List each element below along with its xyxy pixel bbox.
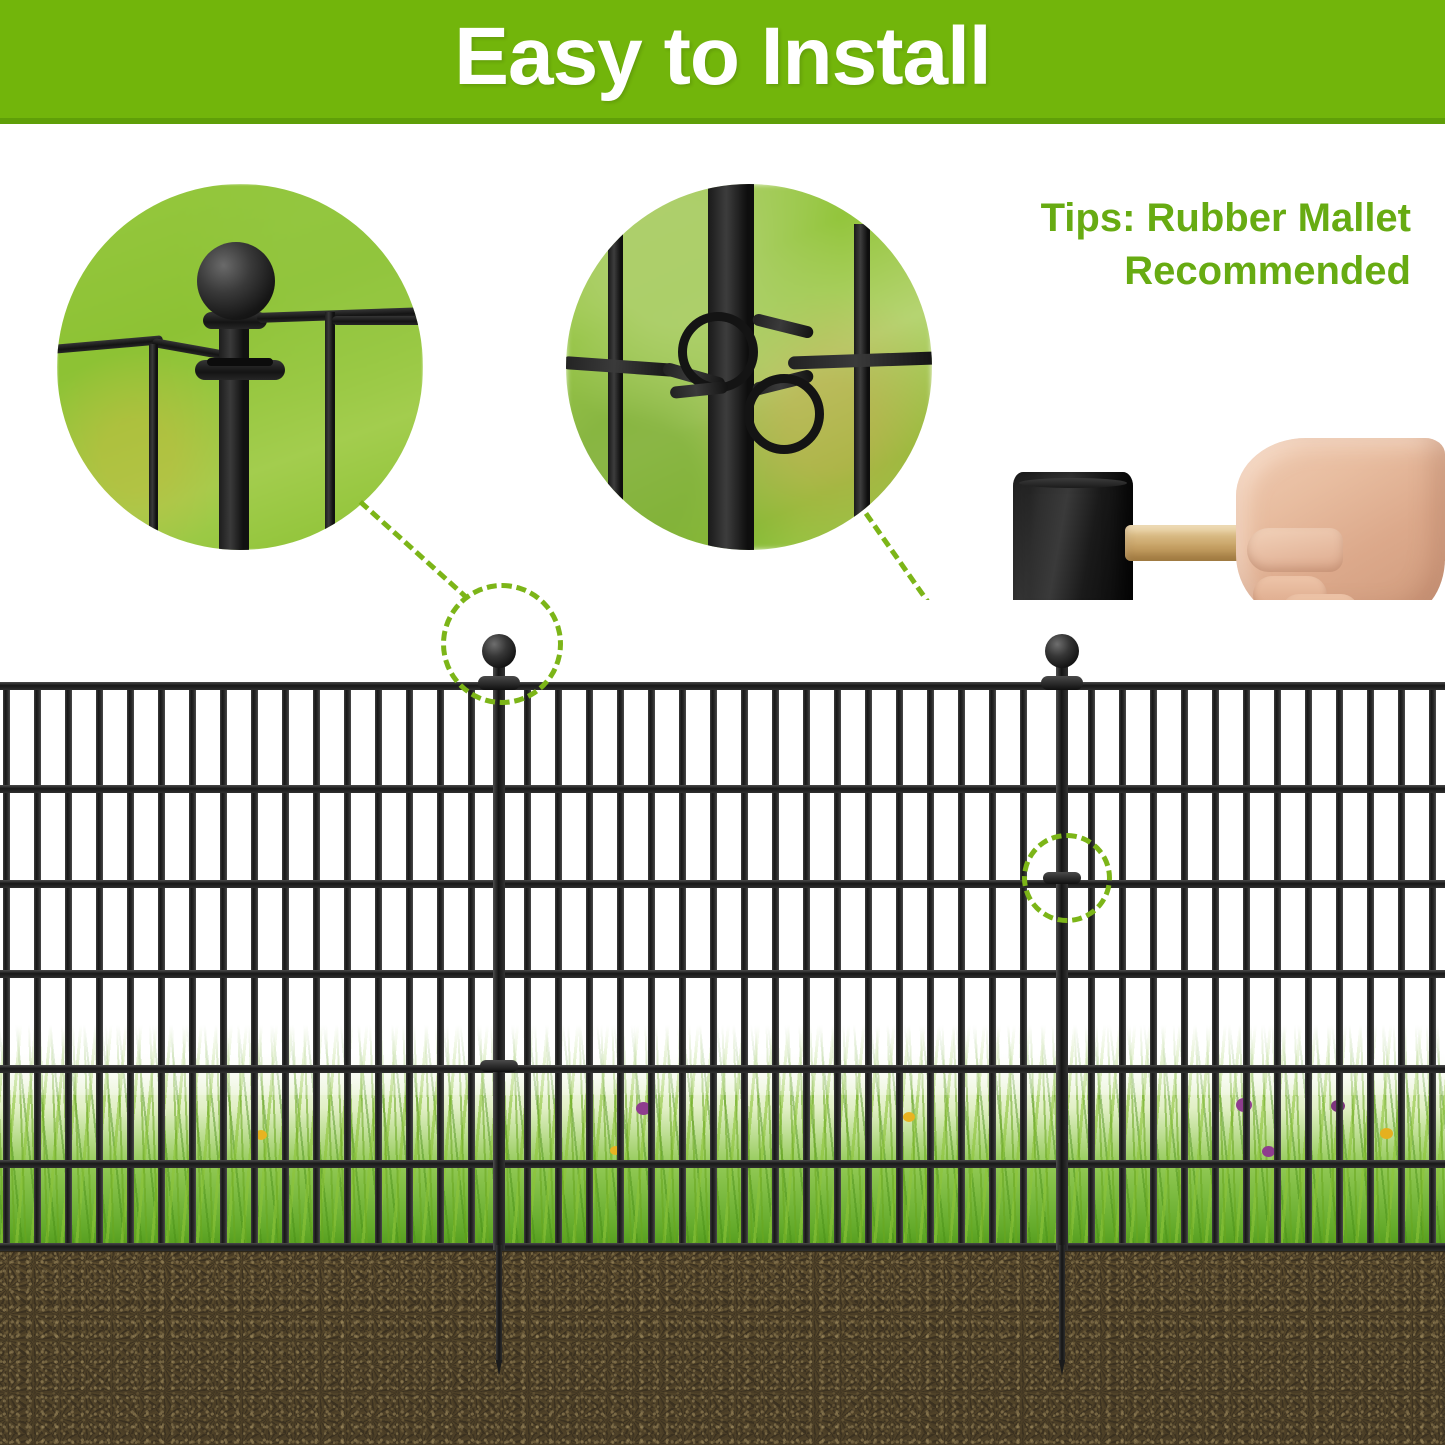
tips-text: Tips: Rubber Mallet Recommended	[941, 192, 1411, 298]
ground-stake-tip	[1059, 1360, 1065, 1376]
fence	[0, 600, 1445, 1445]
ground-stake-tip	[496, 1360, 502, 1376]
fence-rail	[0, 682, 1445, 690]
ground-stake	[1059, 1245, 1065, 1363]
bar-far-right	[854, 224, 870, 524]
thumb	[1247, 528, 1343, 572]
post-center	[219, 294, 249, 550]
fence-rail	[0, 1243, 1445, 1251]
callout-finial-detail	[57, 184, 423, 550]
post-collar	[1041, 676, 1083, 690]
infographic-canvas: Easy to Install Tips: Rubber Mallet Reco…	[0, 0, 1445, 1445]
fence-rail	[0, 1065, 1445, 1073]
connector-highlight-circle	[1022, 833, 1112, 923]
bar-left-vertical	[149, 344, 158, 550]
fence-post	[1056, 658, 1068, 1250]
post-connector-joint	[480, 1060, 518, 1072]
s-hook-upper-loop	[678, 312, 758, 392]
ball-finial	[1045, 634, 1079, 668]
rail-right-far	[332, 316, 423, 325]
tips-label: Tips:	[1041, 196, 1136, 240]
ground-stake	[496, 1245, 502, 1363]
wire-loop-inner	[207, 358, 273, 366]
fence-scene	[0, 600, 1445, 1445]
header-banner-bottom-edge	[0, 118, 1445, 124]
finial-highlight-circle	[441, 583, 563, 705]
page-title: Easy to Install	[0, 14, 1445, 100]
ball-finial-icon	[197, 242, 275, 320]
fence-rail	[0, 880, 1445, 888]
bar-right-vertical	[325, 312, 335, 550]
fence-post	[493, 658, 505, 1250]
s-hook-lower-loop	[744, 374, 824, 454]
fence-rail	[0, 970, 1445, 978]
rubber-mallet-head	[1013, 472, 1133, 620]
fence-rail	[0, 785, 1445, 793]
callout-hook-detail	[566, 184, 932, 550]
tips-body: Rubber Mallet Recommended	[1124, 196, 1411, 293]
fence-rail	[0, 1160, 1445, 1168]
